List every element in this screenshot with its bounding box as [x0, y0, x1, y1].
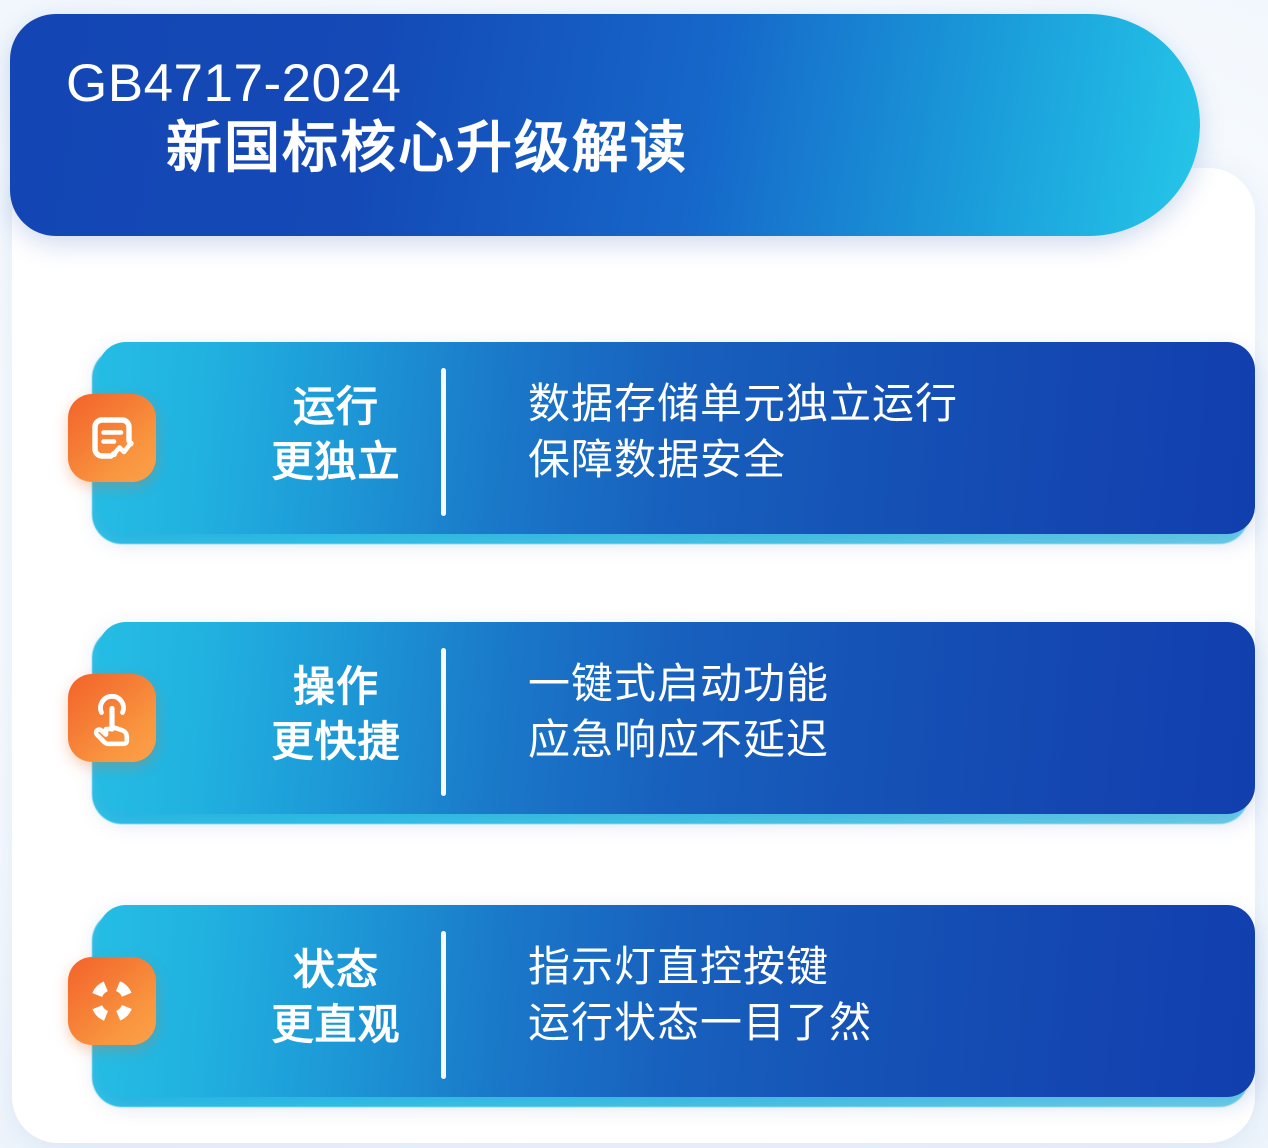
desc-line-2: 保障数据安全	[528, 432, 958, 488]
feature-headline: 状态 更直观	[230, 943, 442, 1052]
headline-line-1: 状态	[230, 943, 442, 998]
feature-headline: 操作 更快捷	[230, 660, 442, 769]
document-chart-icon	[68, 394, 156, 482]
row-divider	[441, 648, 446, 796]
headline-line-1: 操作	[230, 660, 442, 715]
desc-line-1: 数据存储单元独立运行	[528, 376, 958, 432]
feature-description: 数据存储单元独立运行 保障数据安全	[528, 376, 958, 488]
row-divider	[441, 368, 446, 516]
desc-line-2: 应急响应不延迟	[528, 712, 829, 768]
feature-list: 运行 更独立 数据存储单元独立运行 保障数据安全 操作 更快捷 一键式启动功能 …	[0, 0, 1268, 1148]
headline-line-2: 更快捷	[230, 715, 442, 770]
feature-row[interactable]: 运行 更独立 数据存储单元独立运行 保障数据安全	[98, 342, 1255, 540]
desc-line-1: 一键式启动功能	[528, 656, 829, 712]
tap-hand-icon	[68, 674, 156, 762]
headline-line-1: 运行	[230, 380, 442, 435]
feature-row[interactable]: 操作 更快捷 一键式启动功能 应急响应不延迟	[98, 622, 1255, 820]
feature-description: 指示灯直控按键 运行状态一目了然	[528, 939, 872, 1051]
desc-line-2: 运行状态一目了然	[528, 995, 872, 1051]
feature-row[interactable]: 状态 更直观 指示灯直控按键 运行状态一目了然	[98, 905, 1255, 1103]
headline-line-2: 更直观	[230, 998, 442, 1053]
feature-headline: 运行 更独立	[230, 380, 442, 489]
headline-line-2: 更独立	[230, 435, 442, 490]
status-ring-icon	[68, 957, 156, 1045]
feature-description: 一键式启动功能 应急响应不延迟	[528, 656, 829, 768]
row-divider	[441, 931, 446, 1079]
desc-line-1: 指示灯直控按键	[528, 939, 872, 995]
